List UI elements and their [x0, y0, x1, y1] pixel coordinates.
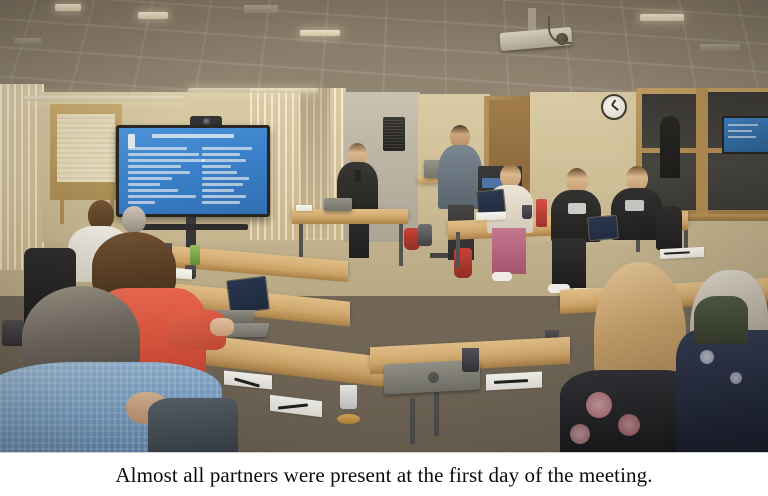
attendee-shoe: [492, 272, 512, 281]
figure-with-caption: Almost all partners were present at the …: [0, 0, 768, 496]
foreground-attendee-trousers: [148, 398, 238, 453]
floral-motif: [730, 372, 742, 384]
ceiling-light-icon: [640, 14, 684, 21]
flip-chart-leg: [60, 200, 64, 224]
office-chair[interactable]: [656, 206, 682, 250]
table-leg: [456, 232, 460, 268]
ceiling-light-icon: [24, 96, 184, 101]
slide-text-line: [202, 177, 249, 180]
bag: [418, 224, 432, 246]
slide-text-line: [202, 189, 235, 192]
presentation-screen[interactable]: [119, 128, 267, 214]
floral-motif: [570, 424, 590, 444]
bag: [2, 320, 24, 346]
water-bottle: [536, 199, 547, 227]
slide-text-line: [202, 183, 243, 186]
attendee-logo: [568, 203, 586, 214]
slide-text-line: [128, 165, 181, 168]
presenter-body: [438, 145, 482, 209]
projector-mount: [528, 8, 536, 32]
table-leg: [399, 224, 403, 266]
attendee-head: [122, 206, 146, 233]
notepad: [224, 370, 272, 389]
person-in-next-room: [660, 116, 680, 178]
coffee-cup: [340, 385, 357, 409]
ceiling-light-icon: [55, 4, 81, 11]
ceiling-vent: [15, 38, 41, 44]
table-leg: [410, 398, 415, 444]
next-room-screen-line: [728, 136, 756, 138]
caption-text: Almost all partners were present at the …: [115, 462, 652, 488]
presenter-table-laptop[interactable]: [324, 198, 352, 211]
slide-text-line: [202, 171, 238, 174]
floral-motif: [618, 414, 640, 436]
attendee-legs: [492, 228, 526, 274]
foreground-attendee-sleeve: [694, 296, 748, 344]
slide-title-line: [152, 134, 235, 138]
slide-text-line: [128, 195, 196, 198]
slide-text-line: [128, 171, 190, 174]
coffee-cup: [462, 348, 479, 372]
table-leg: [434, 392, 439, 436]
slide-text-line: [128, 201, 155, 204]
attendee-legs: [552, 238, 586, 288]
attendee-logo: [625, 200, 644, 211]
slide-logo-icon: [128, 134, 135, 148]
slide-text-line: [202, 201, 240, 204]
next-room-screen: [722, 116, 768, 154]
slide-text-line: [202, 147, 252, 150]
slide-text-line: [202, 195, 246, 198]
next-room-screen-line: [728, 130, 752, 132]
floral-motif: [700, 350, 714, 364]
ceiling-light-icon: [188, 88, 318, 93]
slide-text-line: [128, 177, 172, 180]
slide-text-line: [202, 165, 232, 168]
slide-text-line: [128, 183, 161, 186]
slide-text-line: [128, 147, 187, 150]
foreground-attendee-top: [676, 330, 768, 452]
slide-text-line: [128, 189, 178, 192]
floral-motif: [586, 392, 612, 418]
flip-chart-paper: [57, 114, 115, 182]
attendee-laptop-screen[interactable]: [587, 215, 619, 242]
attendee-hand: [210, 318, 234, 336]
cup-lid: [337, 414, 360, 424]
presenter-table-edge: [292, 219, 408, 224]
open-laptop-screen[interactable]: [226, 276, 270, 315]
ceiling-vent: [244, 5, 278, 13]
notepad: [296, 205, 312, 211]
meeting-room-photo: [0, 0, 768, 453]
screen-stand-crossbar: [140, 224, 248, 230]
laptop-logo-icon: [428, 372, 439, 383]
coffee-cup: [522, 205, 532, 219]
ceiling-light-icon: [300, 30, 340, 36]
ceiling-vent: [700, 44, 740, 51]
ceiling-light-icon: [138, 12, 168, 19]
slide-text-line: [202, 159, 246, 162]
slide-text-line: [128, 153, 199, 156]
figure-caption: Almost all partners were present at the …: [0, 453, 768, 496]
camera-lens-icon: [203, 118, 210, 125]
next-room-screen-line: [728, 124, 758, 126]
speaker-grill: [385, 120, 403, 148]
slide-text-line: [202, 153, 240, 156]
slide-text-line: [128, 159, 205, 162]
window-curtain: [0, 84, 44, 270]
water-bottle: [190, 245, 200, 265]
notepad: [476, 211, 506, 220]
speaker-microphone-icon: [354, 170, 361, 182]
